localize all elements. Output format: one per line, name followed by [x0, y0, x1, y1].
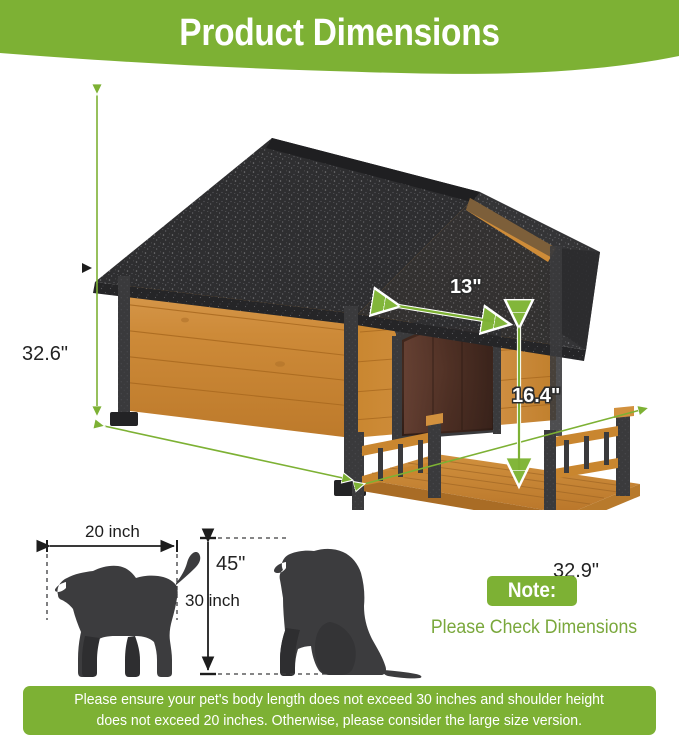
dog-height-label: 30 inch	[185, 591, 240, 611]
doghouse-illustration	[0, 80, 679, 510]
dimension-label-door-height: 16.4"	[512, 385, 560, 408]
product-image-area: 32.6" 45" 32.9" 13" 16.4"	[0, 80, 679, 510]
sitting-dog-silhouette	[274, 549, 421, 679]
standing-dog-silhouette	[55, 552, 200, 677]
note-subtitle: Please Check Dimensions	[413, 617, 655, 639]
dimension-label-door-width: 13"	[450, 276, 482, 299]
note-badge: Note:	[487, 576, 577, 606]
dog-size-section: 20 inch 30 inch	[0, 510, 679, 685]
height-pointer-icon	[82, 263, 92, 273]
dimension-label-height: 32.6"	[22, 343, 68, 366]
dog-length-label: 20 inch	[85, 522, 140, 542]
footer-line-2: does not exceed 20 inches. Otherwise, pl…	[97, 711, 583, 732]
footer-warning-banner: Please ensure your pet's body length doe…	[23, 686, 656, 735]
note-badge-label: Note:	[492, 576, 573, 606]
product-dimensions-infographic: Product Dimensions	[0, 0, 679, 746]
dimension-line-width	[104, 426, 352, 480]
footer-line-1: Please ensure your pet's body length doe…	[75, 690, 605, 711]
page-title: Product Dimensions	[41, 12, 639, 55]
header-banner: Product Dimensions	[0, 0, 679, 80]
